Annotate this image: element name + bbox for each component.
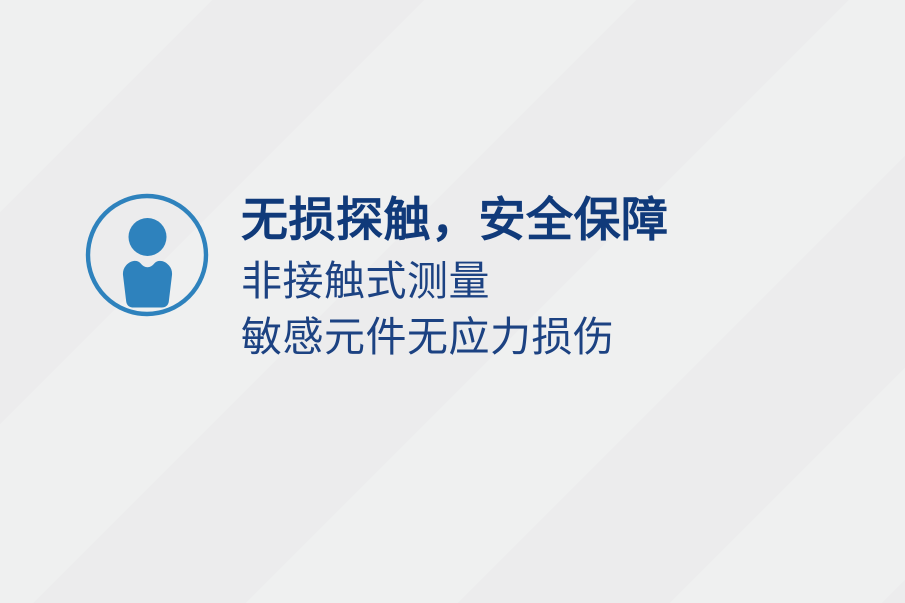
feature-item: 无损探触，安全保障 非接触式测量 敏感元件无应力损伤 [85, 188, 669, 366]
person-in-circle-icon [85, 193, 209, 317]
feature-text-block: 无损探触，安全保障 非接触式测量 敏感元件无应力损伤 [241, 188, 669, 366]
feature-subline-1: 非接触式测量 [241, 253, 669, 310]
feature-headline: 无损探触，安全保障 [241, 194, 669, 247]
icon-person-head [129, 218, 167, 256]
feature-subline-2: 敏感元件无应力损伤 [241, 309, 669, 366]
icon-person-body [123, 261, 172, 308]
feature-banner: 无损探触，安全保障 非接触式测量 敏感元件无应力损伤 [0, 0, 905, 603]
